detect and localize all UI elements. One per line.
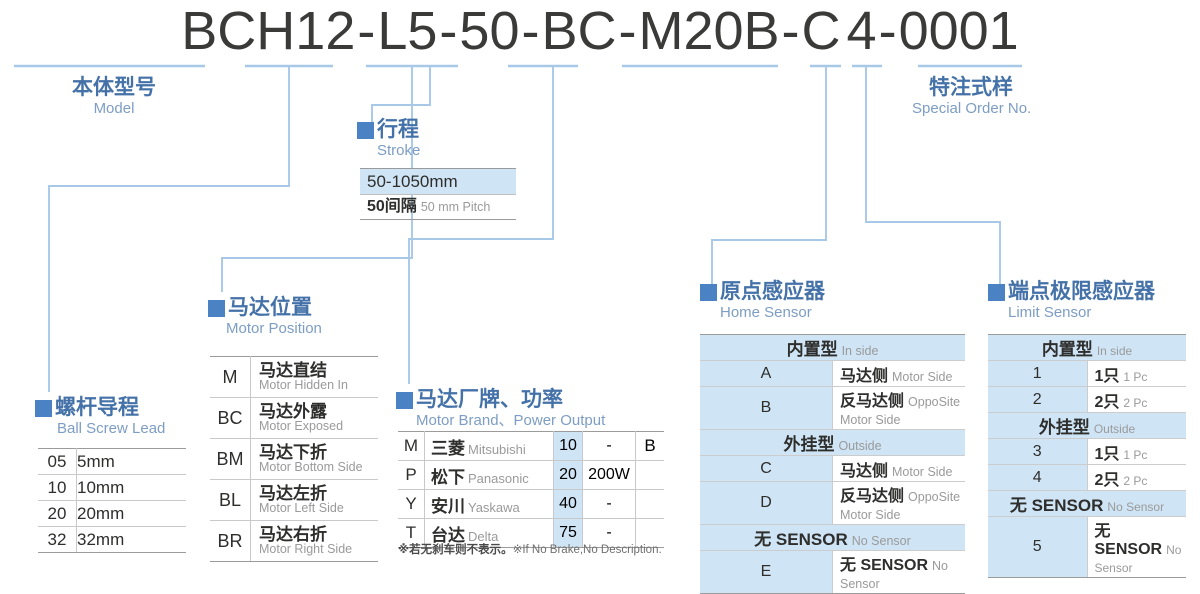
callout-motor-position-title-cn: 马达位置: [228, 296, 312, 319]
motor-brand-rows: M三菱Mitsubishi10-BP松下Panasonic20200WY安川Ya…: [398, 432, 664, 548]
table-row: A马达侧Motor Side: [700, 361, 965, 387]
square-marker-icon: [35, 400, 52, 417]
sensor-value-cell: 反马达侧OppoSite Motor Side: [833, 482, 966, 525]
cell-text-cn: 1只: [1095, 368, 1120, 385]
table-row: BR马达右折Motor Right Side: [210, 521, 378, 562]
motor-position-value-cell: 马达外露Motor Exposed: [251, 398, 379, 439]
motor-position-code-cell: BL: [210, 480, 251, 521]
callout-special-order-title-en: Special Order No.: [912, 100, 1030, 117]
cell-text-en: 1 Pc: [1119, 448, 1147, 462]
cell-text-cn: 无 SENSOR: [840, 557, 928, 574]
cell-text-en: 2 Pc: [1119, 396, 1147, 410]
callout-home-sensor: 原点感应器 Home Sensor: [700, 280, 825, 321]
cell-text-cn: 松下: [431, 468, 465, 487]
callout-stroke: 行程 Stroke: [357, 118, 420, 159]
square-marker-icon: [396, 392, 413, 409]
motor-brand-note-cn: ※若无刹车则不表示。: [398, 544, 513, 556]
table-row: 31只1 Pc: [988, 439, 1186, 465]
table-row: B反马达侧OppoSite Motor Side: [700, 387, 965, 430]
cell-text-en: Panasonic: [465, 471, 529, 486]
brand-name-cell: 安川Yaskawa: [425, 490, 554, 519]
table-row: 055mm: [38, 449, 186, 475]
sensor-code-cell: 3: [988, 439, 1087, 465]
cell-text-en: 1 Pc: [1119, 370, 1147, 384]
sensor-value-cell: 反马达侧OppoSite Motor Side: [833, 387, 966, 430]
sensor-group-header-cell: 外挂型Outside: [700, 430, 965, 456]
home-sensor-rows: 内置型In sideA马达侧Motor SideB反马达侧OppoSite Mo…: [700, 335, 965, 594]
sensor-code-cell: A: [700, 361, 833, 387]
square-marker-icon: [700, 284, 717, 301]
callout-home-sensor-title-cn: 原点感应器: [720, 280, 825, 303]
cell-text-cn: 马达侧: [840, 463, 888, 480]
table-row: C马达侧Motor Side: [700, 456, 965, 482]
sensor-group-header-row: 外挂型Outside: [700, 430, 965, 456]
motor-brand-table: M三菱Mitsubishi10-BP松下Panasonic20200WY安川Ya…: [398, 431, 664, 548]
callout-home-sensor-title-en: Home Sensor: [720, 304, 825, 321]
cell-text-en: Outside: [834, 439, 881, 453]
brand-power-label-cell: -: [583, 490, 636, 519]
callout-stroke-title-cn: 行程: [377, 118, 419, 141]
brand-code-cell: Y: [398, 490, 425, 519]
brand-power-label-cell: -: [583, 432, 636, 461]
ball-screw-lead-table: 055mm1010mm2020mm3232mm: [38, 448, 186, 553]
sensor-group-header-cell: 无 SENSORNo Sensor: [988, 491, 1186, 517]
cell-text-cn: 反马达侧: [840, 393, 904, 410]
cell-text-cn: 马达直结: [259, 362, 378, 380]
table-row: BM马达下折Motor Bottom Side: [210, 439, 378, 480]
cell-text-en: Yaskawa: [465, 500, 520, 515]
cell-text-cn: 1只: [1095, 446, 1120, 463]
sensor-group-header-cell: 无 SENSORNo Sensor: [700, 525, 965, 551]
table-row: E无 SENSORNo Sensor: [700, 551, 965, 594]
sensor-group-header-row: 内置型In side: [700, 335, 965, 361]
callout-limit-sensor-title-en: Limit Sensor: [1008, 304, 1155, 321]
cell-text-en: Motor Exposed: [259, 420, 378, 433]
table-row: 5无 SENSORNo Sensor: [988, 517, 1186, 578]
callout-model-title-cn: 本体型号: [54, 76, 174, 99]
brand-power-code-cell: 20: [554, 461, 583, 490]
brand-brake-cell: [636, 461, 665, 490]
brand-name-cell: 三菱Mitsubishi: [425, 432, 554, 461]
callout-stroke-title-en: Stroke: [377, 142, 420, 159]
stroke-pitch-row: 50间隔50 mm Pitch: [360, 195, 516, 220]
sensor-group-header-row: 内置型In side: [988, 335, 1186, 361]
sensor-group-header-row: 无 SENSORNo Sensor: [988, 491, 1186, 517]
lead-code-cell: 20: [38, 501, 77, 527]
motor-position-code-cell: BC: [210, 398, 251, 439]
cell-text-en: Motor Side: [888, 465, 952, 479]
cell-text-cn: 马达外露: [259, 403, 378, 421]
sensor-group-header-cell: 内置型In side: [988, 335, 1186, 361]
cell-text-en: 2 Pc: [1119, 474, 1147, 488]
cell-text-cn: 马达下折: [259, 444, 378, 462]
motor-position-table: M马达直结Motor Hidden InBC马达外露Motor ExposedB…: [210, 356, 378, 562]
limit-sensor-table: 内置型In side11只1 Pc22只2 Pc外挂型Outside31只1 P…: [988, 334, 1186, 578]
motor-position-value-cell: 马达直结Motor Hidden In: [251, 357, 379, 398]
cell-text-cn: 马达左折: [259, 485, 378, 503]
stroke-range-row: 50-1050mm: [360, 168, 516, 195]
cell-text-en: Motor Bottom Side: [259, 461, 378, 474]
stroke-pitch-cn: 50间隔: [367, 198, 417, 215]
sensor-value-cell: 2只2 Pc: [1087, 387, 1186, 413]
sensor-code-cell: B: [700, 387, 833, 430]
sensor-value-cell: 马达侧Motor Side: [833, 361, 966, 387]
motor-position-value-cell: 马达右折Motor Right Side: [251, 521, 379, 562]
cell-text-cn: 无 SENSOR: [1095, 523, 1163, 558]
callout-limit-sensor-title-cn: 端点极限感应器: [1008, 280, 1155, 303]
sensor-value-cell: 1只1 Pc: [1087, 361, 1186, 387]
callout-motor-brand-title-cn: 马达厂牌、功率: [416, 388, 563, 411]
cell-text-cn: 内置型: [787, 340, 838, 359]
sensor-code-cell: 4: [988, 465, 1087, 491]
sensor-value-cell: 1只1 Pc: [1087, 439, 1186, 465]
sensor-group-header-row: 无 SENSORNo Sensor: [700, 525, 965, 551]
table-row: 22只2 Pc: [988, 387, 1186, 413]
table-row: 1010mm: [38, 475, 186, 501]
cell-text-en: In side: [838, 344, 879, 358]
sensor-group-header-row: 外挂型Outside: [988, 413, 1186, 439]
callout-motor-position-title-en: Motor Position: [226, 320, 322, 337]
motor-position-value-cell: 马达下折Motor Bottom Side: [251, 439, 379, 480]
stroke-pitch-en: 50 mm Pitch: [417, 200, 490, 214]
square-marker-icon: [988, 284, 1005, 301]
stroke-spec-box: 50-1050mm 50间隔50 mm Pitch: [360, 168, 516, 220]
sensor-code-cell: C: [700, 456, 833, 482]
callout-ball-screw-lead: 螺杆导程 Ball Screw Lead: [35, 396, 165, 437]
lead-code-cell: 05: [38, 449, 77, 475]
motor-position-value-cell: 马达左折Motor Left Side: [251, 480, 379, 521]
brand-code-cell: P: [398, 461, 425, 490]
callout-limit-sensor: 端点极限感应器 Limit Sensor: [988, 280, 1155, 321]
brand-brake-cell: [636, 490, 665, 519]
lead-value-cell: 10mm: [77, 475, 187, 501]
callout-lead-title-en: Ball Screw Lead: [57, 420, 165, 437]
callout-motor-position: 马达位置 Motor Position: [208, 296, 322, 337]
table-row: M三菱Mitsubishi10-B: [398, 432, 664, 461]
sensor-value-cell: 马达侧Motor Side: [833, 456, 966, 482]
sensor-group-header-cell: 内置型In side: [700, 335, 965, 361]
callout-lead-title-cn: 螺杆导程: [55, 396, 139, 419]
cell-text-en: In side: [1093, 344, 1132, 358]
brand-name-cell: 松下Panasonic: [425, 461, 554, 490]
home-sensor-table: 内置型In sideA马达侧Motor SideB反马达侧OppoSite Mo…: [700, 334, 965, 594]
ball-screw-lead-rows: 055mm1010mm2020mm3232mm: [38, 449, 186, 553]
cell-text-cn: 马达侧: [840, 368, 888, 385]
sensor-value-cell: 无 SENSORNo Sensor: [833, 551, 966, 594]
cell-text-en: Mitsubishi: [465, 442, 526, 457]
sensor-code-cell: 5: [988, 517, 1087, 578]
sensor-value-cell: 无 SENSORNo Sensor: [1087, 517, 1186, 578]
cell-text-en: Motor Hidden In: [259, 379, 378, 392]
callout-motor-brand-title-en: Motor Brand、Power Output: [416, 412, 605, 429]
cell-text-en: Outside: [1090, 422, 1135, 436]
table-row: D反马达侧OppoSite Motor Side: [700, 482, 965, 525]
callout-model-title-en: Model: [54, 100, 174, 117]
lead-value-cell: 32mm: [77, 527, 187, 553]
limit-sensor-rows: 内置型In side11只1 Pc22只2 Pc外挂型Outside31只1 P…: [988, 335, 1186, 578]
callout-special-order-title-cn: 特注式样: [912, 76, 1030, 99]
motor-position-code-cell: BR: [210, 521, 251, 562]
lead-value-cell: 20mm: [77, 501, 187, 527]
cell-text-cn: 安川: [431, 497, 465, 516]
cell-text-cn: 马达右折: [259, 526, 378, 544]
lead-code-cell: 10: [38, 475, 77, 501]
callout-model: 本体型号 Model: [54, 76, 174, 117]
cell-text-cn: 2只: [1095, 472, 1120, 489]
cell-text-cn: 无 SENSOR: [1010, 496, 1104, 515]
square-marker-icon: [357, 122, 374, 139]
cell-text-en: Motor Right Side: [259, 543, 378, 556]
brand-power-code-cell: 10: [554, 432, 583, 461]
cell-text-cn: 外挂型: [1039, 418, 1090, 437]
leader-motor-brand: [409, 66, 553, 384]
motor-brand-note-en: ※If No Brake,No Description.: [513, 544, 662, 556]
table-row: 3232mm: [38, 527, 186, 553]
sensor-code-cell: E: [700, 551, 833, 594]
motor-position-code-cell: BM: [210, 439, 251, 480]
cell-text-cn: 无 SENSOR: [754, 530, 848, 549]
sensor-code-cell: D: [700, 482, 833, 525]
table-row: 2020mm: [38, 501, 186, 527]
table-row: P松下Panasonic20200W: [398, 461, 664, 490]
table-row: BL马达左折Motor Left Side: [210, 480, 378, 521]
table-row: M马达直结Motor Hidden In: [210, 357, 378, 398]
cell-text-cn: 外挂型: [783, 435, 834, 454]
square-marker-icon: [208, 300, 225, 317]
lead-value-cell: 5mm: [77, 449, 187, 475]
table-row: BC马达外露Motor Exposed: [210, 398, 378, 439]
cell-text-en: No Sensor: [1103, 500, 1164, 514]
brand-code-cell: M: [398, 432, 425, 461]
sensor-code-cell: 2: [988, 387, 1087, 413]
table-row: Y安川Yaskawa40-: [398, 490, 664, 519]
table-row: 42只2 Pc: [988, 465, 1186, 491]
cell-text-en: Motor Left Side: [259, 502, 378, 515]
table-row: 11只1 Pc: [988, 361, 1186, 387]
cell-text-en: No Sensor: [848, 534, 911, 548]
callout-motor-brand: 马达厂牌、功率 Motor Brand、Power Output: [396, 388, 605, 429]
cell-text-cn: 三菱: [431, 439, 465, 458]
cell-text-en: Motor Side: [888, 370, 952, 384]
cell-text-cn: 内置型: [1042, 340, 1093, 359]
sensor-group-header-cell: 外挂型Outside: [988, 413, 1186, 439]
sensor-code-cell: 1: [988, 361, 1087, 387]
callout-special-order: 特注式样 Special Order No.: [912, 76, 1030, 117]
sensor-value-cell: 2只2 Pc: [1087, 465, 1186, 491]
motor-position-rows: M马达直结Motor Hidden InBC马达外露Motor ExposedB…: [210, 357, 378, 562]
leader-home-sensor: [712, 66, 826, 292]
brand-brake-cell: B: [636, 432, 665, 461]
lead-code-cell: 32: [38, 527, 77, 553]
cell-text-cn: 2只: [1095, 394, 1120, 411]
motor-position-code-cell: M: [210, 357, 251, 398]
motor-brand-note: ※若无刹车则不表示。※If No Brake,No Description.: [398, 541, 678, 557]
brand-power-code-cell: 40: [554, 490, 583, 519]
brand-power-label-cell: 200W: [583, 461, 636, 490]
part-number-breakdown-diagram: BCH12-L5-50-BC-M20B-C4-0001: [0, 0, 1200, 575]
cell-text-cn: 反马达侧: [840, 488, 904, 505]
